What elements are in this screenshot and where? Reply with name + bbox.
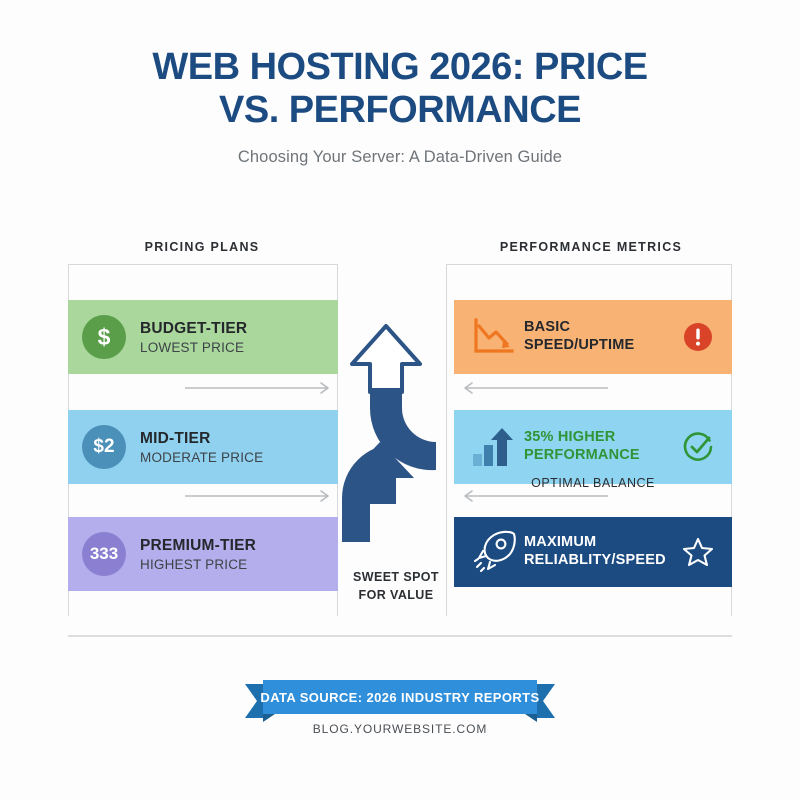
metric-card-higher-performance[interactable]: 35% HIGHER PERFORMANCE (454, 410, 732, 484)
footer-divider (68, 635, 732, 637)
warning-icon (678, 322, 718, 352)
metric-card-body: 35% HIGHER PERFORMANCE (524, 429, 678, 464)
connector-arrow-right-2 (185, 489, 335, 503)
metric-card-basic-speed[interactable]: BASIC SPEED/UPTIME (454, 300, 732, 374)
metric-card-maximum-reliability[interactable]: MAXIMUM RELIABLITY/SPEED (454, 517, 732, 587)
page-title-line-2: VS. PERFORMANCE (0, 89, 800, 132)
metric-card-title-line-1: MAXIMUM (524, 534, 666, 552)
data-source-ribbon: DATA SOURCE: 2026 INDUSTRY REPORTS (245, 680, 555, 722)
pricing-card-subtitle: HIGHEST PRICE (140, 557, 256, 572)
metric-card-title-line-2: PERFORMANCE (524, 447, 640, 465)
page-title: WEB HOSTING 2026: PRICE VS. PERFORMANCE (0, 46, 800, 131)
connector-arrow-right-1 (185, 381, 335, 395)
data-source-text: DATA SOURCE: 2026 INDUSTRY REPORTS (245, 680, 555, 714)
connector-arrow-left-1 (458, 381, 608, 395)
price-badge-icon: $2 (82, 425, 126, 469)
pricing-card-subtitle: LOWEST PRICE (140, 340, 247, 355)
page-title-line-1: WEB HOSTING 2026: PRICE (0, 46, 800, 89)
sweet-spot-label-line-2: FOR VALUE (340, 586, 452, 604)
sweet-spot-label: SWEET SPOT FOR VALUE (340, 568, 452, 604)
pricing-card-text: BUDGET-TIER LOWEST PRICE (140, 320, 247, 355)
header: WEB HOSTING 2026: PRICE VS. PERFORMANCE … (0, 0, 800, 167)
metric-card-caption: OPTIMAL BALANCE (454, 476, 732, 490)
infographic-page: WEB HOSTING 2026: PRICE VS. PERFORMANCE … (0, 0, 800, 800)
metric-card-body: BASIC SPEED/UPTIME (524, 319, 678, 354)
price-badge-icon: 333 (82, 532, 126, 576)
pricing-card-mid-tier[interactable]: $2 MID-TIER MODERATE PRICE (68, 410, 338, 484)
metric-card-title: 35% HIGHER PERFORMANCE (524, 429, 640, 464)
page-subtitle: Choosing Your Server: A Data-Driven Guid… (0, 148, 800, 167)
pricing-card-budget-tier[interactable]: $ BUDGET-TIER LOWEST PRICE (68, 300, 338, 374)
column-heading-pricing-plans: PRICING PLANS (68, 240, 336, 254)
column-headings: PRICING PLANS PERFORMANCE METRICS (0, 240, 800, 262)
metric-card-title: BASIC SPEED/UPTIME (524, 319, 678, 354)
pricing-card-text: PREMIUM-TIER HIGHEST PRICE (140, 537, 256, 572)
metric-card-body: MAXIMUM RELIABLITY/SPEED (524, 534, 678, 569)
pricing-card-subtitle: MODERATE PRICE (140, 450, 263, 465)
sweet-spot-label-line-1: SWEET SPOT (340, 568, 452, 586)
pricing-card-title: MID-TIER (140, 430, 263, 448)
website-url: BLOG.YOURWEBSITE.COM (0, 722, 800, 736)
sweet-spot-arrows (340, 292, 452, 562)
rocket-icon (468, 530, 520, 574)
star-icon (678, 536, 718, 568)
metric-card-title: MAXIMUM RELIABLITY/SPEED (524, 534, 666, 569)
pricing-card-premium-tier[interactable]: 333 PREMIUM-TIER HIGHEST PRICE (68, 517, 338, 591)
pricing-card-title: BUDGET-TIER (140, 320, 247, 338)
metric-card-title-line-1: 35% HIGHER (524, 429, 640, 447)
check-circle-icon (678, 431, 718, 463)
pricing-card-text: MID-TIER MODERATE PRICE (140, 430, 263, 465)
declining-chart-icon (468, 317, 520, 357)
column-heading-performance-metrics: PERFORMANCE METRICS (452, 240, 730, 254)
dollar-badge-icon: $ (82, 315, 126, 359)
rising-bar-chart-icon (468, 426, 520, 468)
pricing-card-title: PREMIUM-TIER (140, 537, 256, 555)
metric-card-title-line-2: RELIABLITY/SPEED (524, 552, 666, 570)
connector-arrow-left-2 (458, 489, 608, 503)
